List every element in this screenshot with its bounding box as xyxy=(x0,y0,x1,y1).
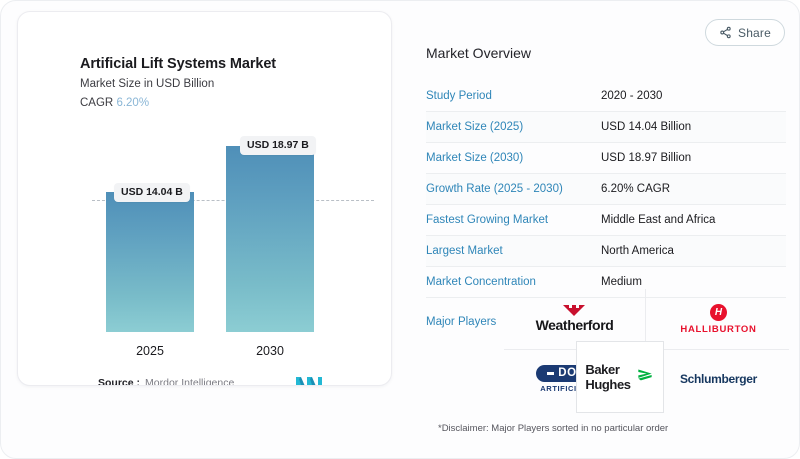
row-key: Largest Market xyxy=(426,245,601,257)
player-cell-schlumberger[interactable]: Schlumberger xyxy=(648,349,789,409)
x-axis-label-2030: 2030 xyxy=(226,344,314,358)
x-axis-label-2025: 2025 xyxy=(106,344,194,358)
share-button[interactable]: Share xyxy=(705,19,785,46)
baker-hughes-logo: Baker Hughes xyxy=(585,362,654,392)
row-value: 6.20% CAGR xyxy=(601,183,670,195)
baker-hughes-wordmark: Baker Hughes xyxy=(585,362,630,392)
share-nodes-icon xyxy=(719,26,732,39)
bar-label-2025: USD 14.04 B xyxy=(114,183,190,202)
row-key: Study Period xyxy=(426,90,601,102)
weatherford-wordmark: Weatherford xyxy=(536,317,614,333)
share-button-label: Share xyxy=(738,26,771,40)
player-cell-halliburton[interactable]: H HALLIBURTON xyxy=(648,289,789,349)
weatherford-logo: Weatherford xyxy=(536,305,614,333)
row-value: USD 18.97 Billion xyxy=(601,152,691,164)
row-key: Market Size (2030) xyxy=(426,152,601,164)
row-value: 2020 - 2030 xyxy=(601,90,662,102)
player-cell-weatherford[interactable]: Weatherford xyxy=(504,289,645,349)
row-value: Middle East and Africa xyxy=(601,214,715,226)
table-row: Largest Market North America xyxy=(426,236,786,267)
table-row: Market Size (2025) USD 14.04 Billion xyxy=(426,112,786,143)
halliburton-logo: H HALLIBURTON xyxy=(680,304,756,335)
source-label: Source : xyxy=(98,377,140,386)
baker-hughes-line1: Baker xyxy=(585,362,630,377)
row-key: Market Size (2025) xyxy=(426,121,601,133)
halliburton-mark-icon: H xyxy=(710,304,727,321)
row-key: Fastest Growing Market xyxy=(426,214,601,226)
source-row: Source : Mordor Intelligence xyxy=(98,377,234,386)
mordor-intelligence-logo xyxy=(296,375,322,386)
player-cell-baker-hughes[interactable]: Baker Hughes xyxy=(576,341,664,413)
dover-dash-icon xyxy=(547,372,554,375)
table-row: Market Size (2030) USD 18.97 Billion xyxy=(426,143,786,174)
panel-title: Market Overview xyxy=(426,45,786,61)
row-key: Market Concentration xyxy=(426,276,601,288)
bar-label-2030: USD 18.97 B xyxy=(240,136,316,155)
table-row: Fastest Growing Market Middle East and A… xyxy=(426,205,786,236)
schlumberger-wordmark: Schlumberger xyxy=(680,372,757,386)
table-row: Growth Rate (2025 - 2030) 6.20% CAGR xyxy=(426,174,786,205)
bar-chart-plot: USD 14.04 B USD 18.97 B 2025 2030 xyxy=(18,12,392,386)
chart-card: Artificial Lift Systems Market Market Si… xyxy=(17,11,392,386)
row-value: Medium xyxy=(601,276,642,288)
weatherford-mark-icon xyxy=(563,305,585,316)
row-value: North America xyxy=(601,245,674,257)
baker-hughes-mark-icon xyxy=(635,367,655,387)
row-value: USD 14.04 Billion xyxy=(601,121,691,133)
disclaimer-text: *Disclaimer: Major Players sorted in no … xyxy=(438,423,668,434)
source-value: Mordor Intelligence xyxy=(145,377,234,386)
market-overview-panel: Market Overview Study Period 2020 - 2030… xyxy=(426,45,786,328)
market-snapshot-widget: Share Artificial Lift Systems Market Mar… xyxy=(0,0,800,459)
row-key: Growth Rate (2025 - 2030) xyxy=(426,183,601,195)
baker-hughes-line2: Hughes xyxy=(585,377,630,392)
bar-2030[interactable] xyxy=(226,146,314,332)
halliburton-wordmark: HALLIBURTON xyxy=(680,324,756,335)
table-row: Study Period 2020 - 2030 xyxy=(426,81,786,112)
bar-2025[interactable] xyxy=(106,192,194,332)
